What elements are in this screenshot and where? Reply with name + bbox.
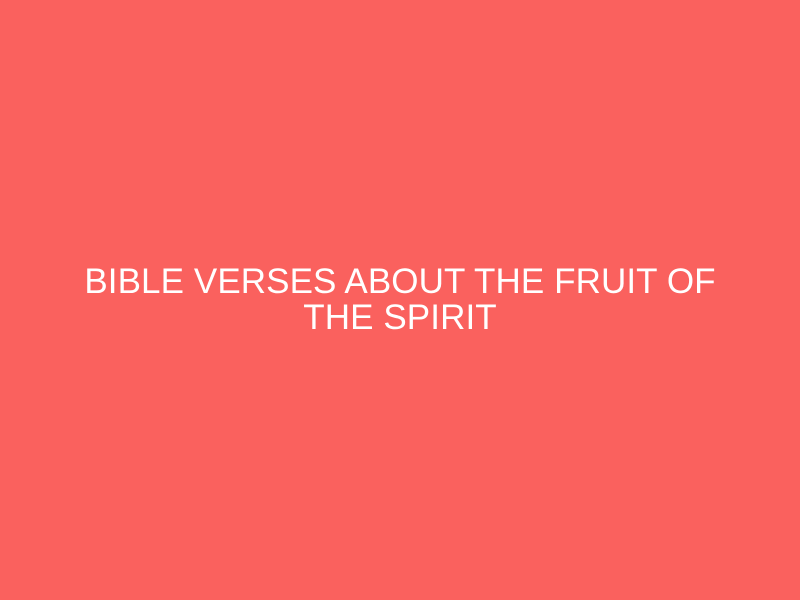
title-block: BIBLE VERSES ABOUT THE FRUIT OF THE SPIR…: [50, 264, 750, 336]
page-title: BIBLE VERSES ABOUT THE FRUIT OF THE SPIR…: [50, 264, 750, 336]
placeholder-card: BIBLE VERSES ABOUT THE FRUIT OF THE SPIR…: [0, 0, 800, 600]
